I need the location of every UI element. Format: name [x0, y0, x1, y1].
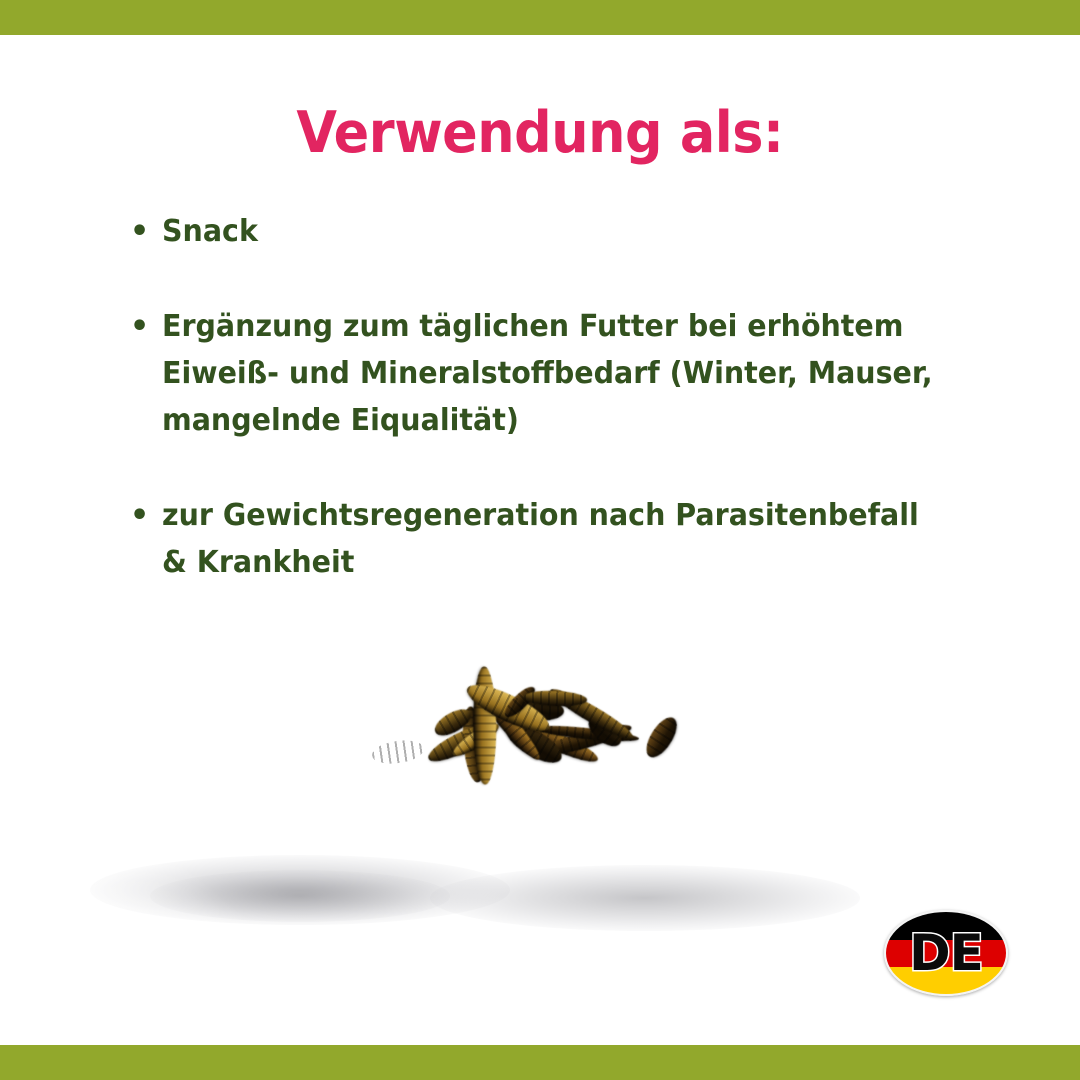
de-badge-label: DE: [886, 912, 1006, 994]
list-item: • zur Gewichtsregeneration nach Parasite…: [130, 492, 990, 586]
list-item: • Ergänzung zum täglichen Futter bei erh…: [130, 303, 990, 444]
bullet-dot-icon: •: [130, 303, 162, 350]
bottom-green-band: [0, 1045, 1080, 1080]
usage-bullet-list: • Snack • Ergänzung zum täglichen Futter…: [130, 208, 990, 681]
larva-ground-shadow: [430, 865, 860, 931]
list-item-label: Snack: [162, 208, 949, 255]
list-item-label: Ergänzung zum täglichen Futter bei erhöh…: [162, 303, 949, 444]
list-item: • Snack: [130, 208, 990, 255]
list-item-label: zur Gewichtsregeneration nach Parasitenb…: [162, 492, 949, 586]
top-green-band: [0, 0, 1080, 35]
de-country-badge: DE: [884, 910, 1008, 996]
bullet-dot-icon: •: [130, 492, 162, 539]
slide-canvas: Verwendung als: • Snack • Ergänzung zum …: [0, 0, 1080, 1080]
larva-ground-shadow: [150, 870, 450, 922]
page-title: Verwendung als:: [43, 104, 1037, 164]
bullet-dot-icon: •: [130, 208, 162, 255]
